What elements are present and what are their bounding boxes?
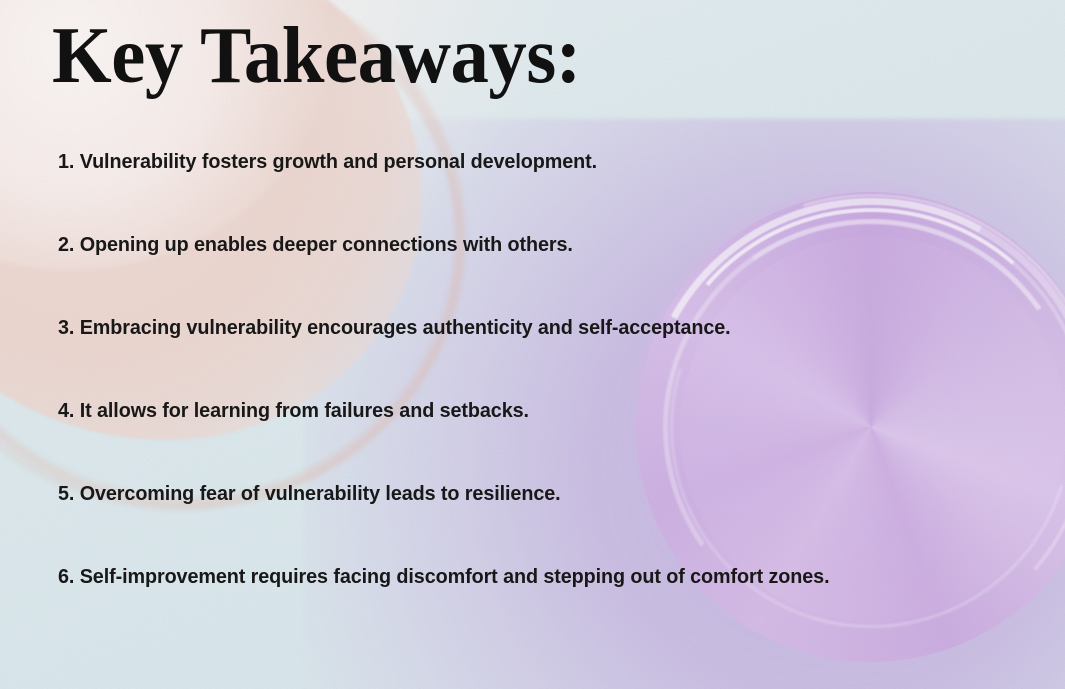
list-item: 6. Self-improvement requires facing disc…: [58, 564, 1010, 647]
list-item: 2. Opening up enables deeper connections…: [58, 232, 1010, 315]
slide-content: Key Takeaways: 1. Vulnerability fosters …: [0, 0, 1065, 689]
list-item: 5. Overcoming fear of vulnerability lead…: [58, 481, 1010, 564]
takeaways-list: 1. Vulnerability fosters growth and pers…: [58, 149, 1045, 647]
key-takeaways-slide: Key Takeaways: 1. Vulnerability fosters …: [0, 0, 1065, 689]
page-title: Key Takeaways:: [52, 16, 581, 96]
list-item: 4. It allows for learning from failures …: [58, 398, 1010, 481]
list-item: 3. Embracing vulnerability encourages au…: [58, 315, 1010, 398]
list-item: 1. Vulnerability fosters growth and pers…: [58, 149, 1010, 232]
